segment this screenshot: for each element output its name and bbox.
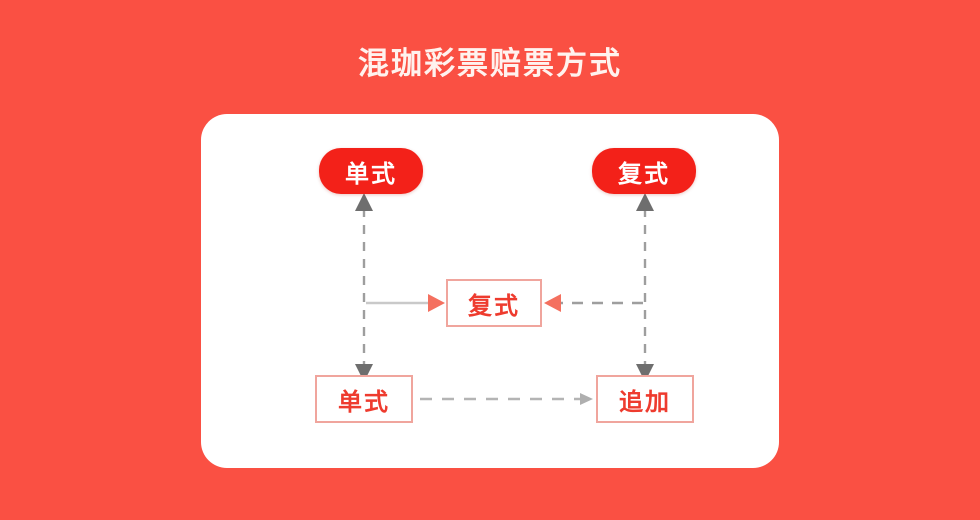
connector-right-branch [544,294,643,312]
node-bottom-right-box[interactable]: 追加 [596,375,694,423]
left-branch-arrowhead [428,294,445,312]
node-center-box[interactable]: 复式 [446,279,542,327]
node-top-left-pill[interactable]: 单式 [319,148,423,194]
left-vertical-up-arrowhead [355,193,373,211]
connector-right-vertical [636,193,654,382]
connector-bottom-horizontal [420,393,593,405]
page-root: 混珈彩票赔票方式 [0,0,980,520]
diagram-card: 单式 复式 复式 单式 追加 [201,114,779,468]
node-top-right-pill[interactable]: 复式 [592,148,696,194]
page-title: 混珈彩票赔票方式 [0,44,980,84]
bottom-horizontal-arrowhead [580,393,593,405]
connector-left-branch [366,294,445,312]
right-branch-arrowhead [544,294,561,312]
right-vertical-up-arrowhead [636,193,654,211]
node-bottom-left-box[interactable]: 单式 [315,375,413,423]
diagram-canvas: 单式 复式 复式 单式 追加 [201,114,779,468]
connector-left-vertical [355,193,373,382]
